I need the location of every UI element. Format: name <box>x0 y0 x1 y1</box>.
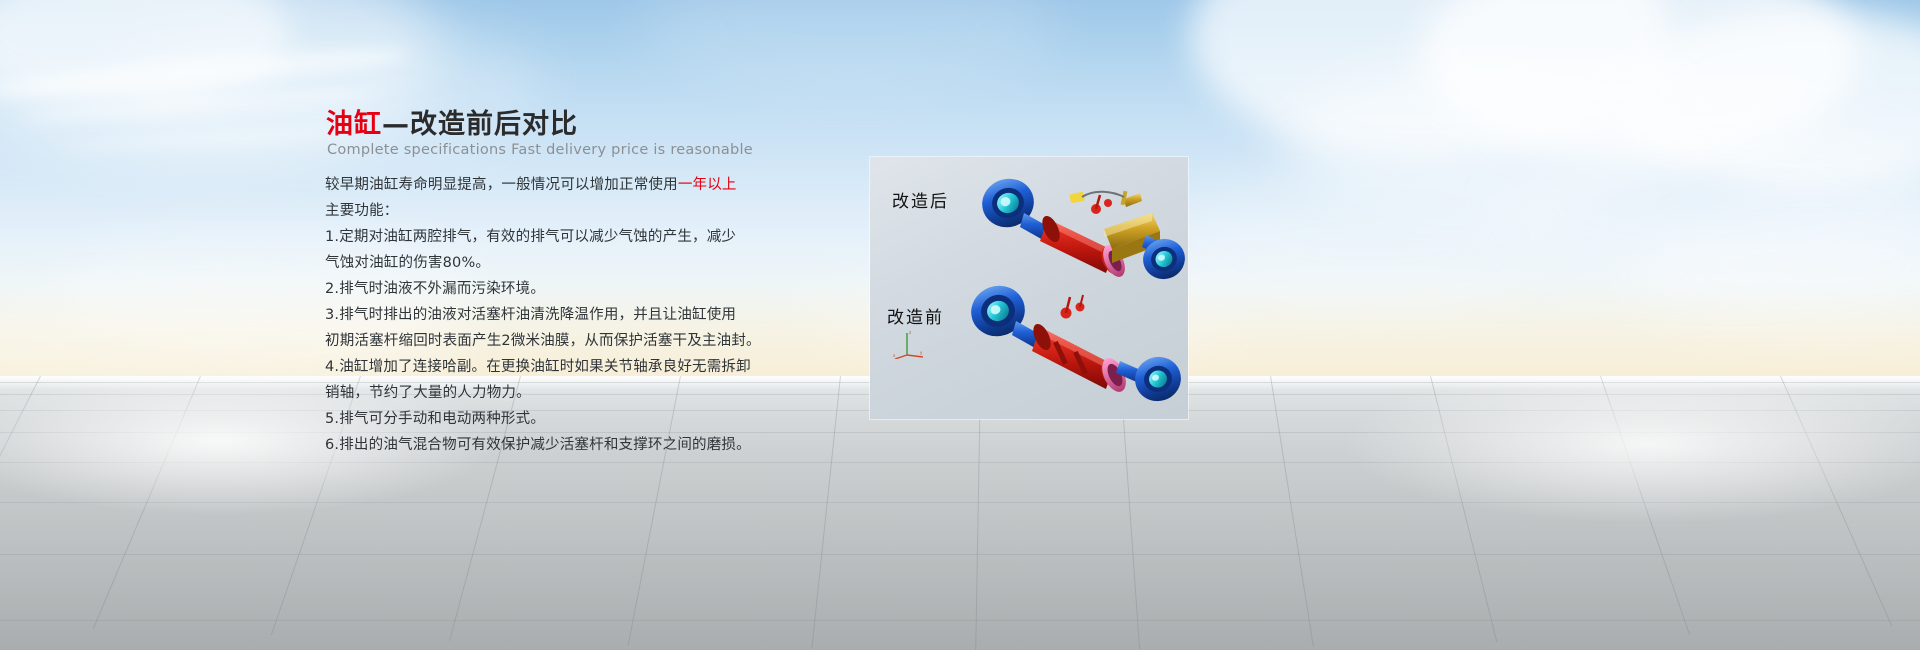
feature-line-text: 初期活塞杆缩回时表面产生2微米油膜，从而保护活塞干及主油封。 <box>325 333 761 349</box>
feature-line: 1.定期对油缸两腔排气，有效的排气可以减少气蚀的产生，减少 <box>325 224 745 250</box>
feature-line: 销轴，节约了大量的人力物力。 <box>325 380 745 406</box>
feature-line-text: 1.定期对油缸两腔排气，有效的排气可以减少气蚀的产生，减少 <box>325 229 736 245</box>
feature-line: 4.油缸增加了连接哈副。在更换油缸时如果关节轴承良好无需拆卸 <box>325 354 745 380</box>
axis-triad-icon: z x y <box>893 329 925 359</box>
axis-label-x: x <box>893 353 896 358</box>
feature-line-text: 3.排气时排出的油液对活塞杆油清洗降温作用，并且让油缸使用 <box>325 307 736 323</box>
hydraulic-cylinder-before <box>962 279 1186 405</box>
feature-line: 初期活塞杆缩回时表面产生2微米油膜，从而保护活塞干及主油封。 <box>325 328 745 354</box>
label-after-modification: 改造后 <box>892 187 949 212</box>
feature-line-text: 6.排出的油气混合物可有效保护减少活塞杆和支撑环之间的磨损。 <box>325 437 751 453</box>
feature-line: 较早期油缸寿命明显提高，一般情况可以增加正常使用一年以上 <box>325 172 745 198</box>
feature-line-text: 4.油缸增加了连接哈副。在更换油缸时如果关节轴承良好无需拆卸 <box>325 359 751 375</box>
feature-line: 2.排气时油液不外漏而污染环境。 <box>325 276 745 302</box>
feature-line: 6.排出的油气混合物可有效保护减少活塞杆和支撑环之间的磨损。 <box>325 432 745 458</box>
feature-line: 3.排气时排出的油液对活塞杆油清洗降温作用，并且让油缸使用 <box>325 302 745 328</box>
axis-label-y: y <box>920 350 923 355</box>
feature-list: 较早期油缸寿命明显提高，一般情况可以增加正常使用一年以上主要功能：1.定期对油缸… <box>325 172 745 458</box>
page-subtitle: Complete specifications Fast delivery pr… <box>327 142 753 158</box>
page-title-rest: —改造前后对比 <box>382 109 578 140</box>
feature-line: 5.排气可分手动和电动两种形式。 <box>325 406 745 432</box>
feature-line-text: 气蚀对油缸的伤害80%。 <box>325 255 490 271</box>
feature-line: 主要功能： <box>325 198 745 224</box>
feature-line-accent: 一年以上 <box>678 177 737 193</box>
feature-line-text: 2.排气时油液不外漏而污染环境。 <box>325 281 545 297</box>
page-title-highlight: 油缸 <box>326 109 382 140</box>
feature-line-text: 销轴，节约了大量的人力物力。 <box>325 385 531 401</box>
product-comparison-panel: 改造后 改造前 <box>870 157 1188 419</box>
hydraulic-cylinder-after <box>974 169 1186 287</box>
feature-line-text: 较早期油缸寿命明显提高，一般情况可以增加正常使用 <box>325 177 678 193</box>
page-title: 油缸—改造前后对比 <box>326 110 578 140</box>
axis-label-z: z <box>909 330 911 335</box>
label-before-modification: 改造前 <box>887 303 944 328</box>
banner-content: 油缸—改造前后对比 Complete specifications Fast d… <box>0 0 1920 650</box>
feature-line-text: 主要功能： <box>325 203 399 219</box>
feature-line-text: 5.排气可分手动和电动两种形式。 <box>325 411 545 427</box>
feature-line: 气蚀对油缸的伤害80%。 <box>325 250 745 276</box>
